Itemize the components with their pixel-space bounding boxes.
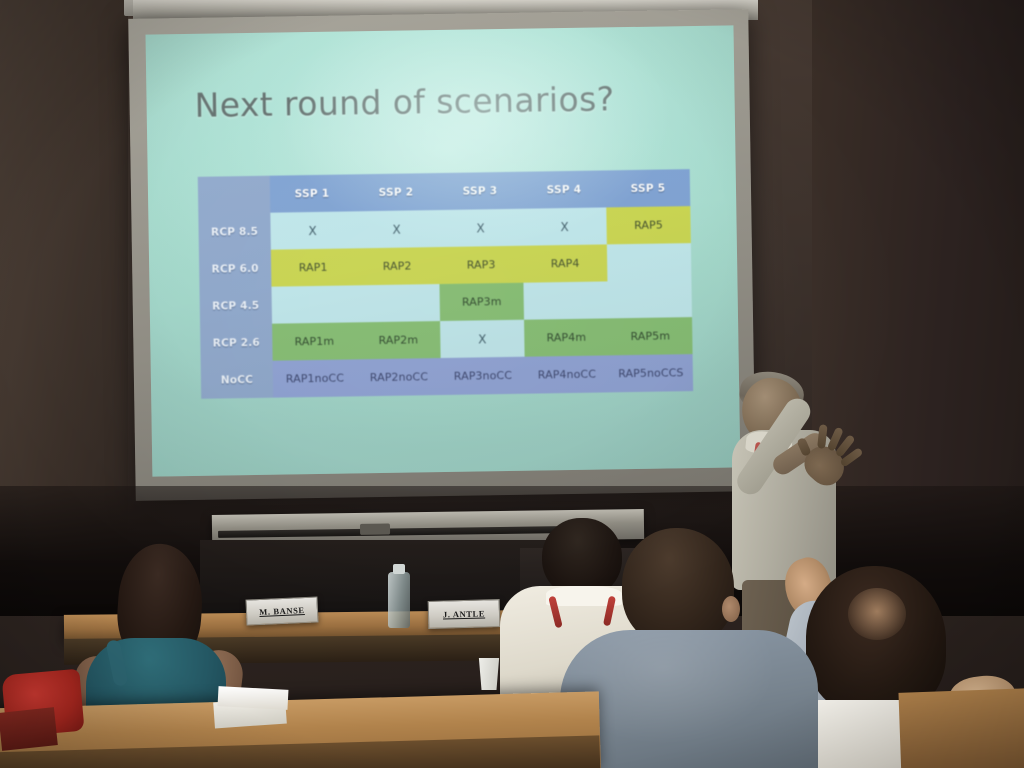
thumb [796, 437, 812, 457]
cell-rcp85-ssp1: X [270, 211, 355, 249]
cell-rcp85-ssp2: X [354, 210, 439, 248]
attendee-gray-shirt-ear [722, 596, 740, 622]
column-header-ssp3: SSP 3 [438, 172, 523, 210]
right-desk [898, 687, 1024, 768]
cell-rcp60-ssp2: RAP2 [355, 247, 440, 285]
cell-rcp45-ssp5 [607, 280, 692, 318]
cell-rcp85-ssp4: X [522, 207, 607, 245]
table-corner-cell [198, 176, 271, 214]
cell-rcp60-ssp1: RAP1 [271, 248, 356, 286]
cell-rcp45-ssp4 [523, 281, 608, 319]
red-notebook [0, 707, 58, 751]
cell-rcp60-ssp3: RAP3 [439, 246, 524, 284]
conference-room-photo: Next round of scenarios? SSP 1 SSP 2 SSP… [0, 0, 1024, 768]
bottle-cap [393, 564, 405, 574]
column-header-ssp4: SSP 4 [522, 170, 607, 208]
cell-rcp26-ssp4: RAP4m [524, 318, 609, 356]
projection-screen-frame: Next round of scenarios? SSP 1 SSP 2 SSP… [128, 9, 755, 501]
cell-rcp26-ssp1: RAP1m [272, 322, 357, 360]
attendee-right-scalp [848, 588, 906, 640]
column-header-ssp1: SSP 1 [270, 174, 355, 212]
cell-rcp85-ssp3: X [438, 209, 523, 247]
cell-nocc-ssp5: RAP5noCCS [609, 354, 694, 392]
cell-nocc-ssp1: RAP1noCC [273, 359, 358, 397]
attendee-gray-shirt-hair [622, 528, 734, 646]
cell-nocc-ssp4: RAP4noCC [525, 355, 610, 393]
cell-rcp45-ssp3: RAP3m [439, 283, 524, 321]
column-header-ssp2: SSP 2 [354, 173, 439, 211]
wall-left [0, 0, 128, 560]
water-bottle [388, 572, 410, 628]
table-row: NoCC RAP1noCC RAP2noCC RAP3noCC RAP4noCC… [201, 354, 694, 399]
tray-knob [360, 524, 390, 535]
cell-rcp85-ssp5: RAP5 [606, 206, 691, 244]
slide: Next round of scenarios? SSP 1 SSP 2 SSP… [146, 25, 741, 476]
cell-nocc-ssp2: RAP2noCC [357, 358, 442, 396]
name-placard: M. BANSE [245, 596, 318, 625]
row-header-rcp60: RCP 6.0 [199, 250, 272, 288]
cell-rcp60-ssp4: RAP4 [523, 244, 608, 282]
paper-cup [478, 658, 500, 690]
cell-nocc-ssp3: RAP3noCC [441, 357, 526, 395]
slide-title: Next round of scenarios? [194, 79, 615, 125]
cell-rcp60-ssp5 [607, 243, 692, 281]
column-header-ssp5: SSP 5 [606, 169, 691, 207]
scenario-matrix-table: SSP 1 SSP 2 SSP 3 SSP 4 SSP 5 RCP 8.5 X … [198, 169, 693, 399]
tray-lip [218, 526, 588, 538]
row-header-rcp26: RCP 2.6 [200, 324, 273, 362]
projection-screen-surface: Next round of scenarios? SSP 1 SSP 2 SSP… [146, 25, 741, 476]
row-header-rcp85: RCP 8.5 [198, 213, 271, 251]
cell-rcp26-ssp2: RAP2m [356, 321, 441, 359]
papers-sheet [218, 686, 289, 710]
name-placard: J. ANTLE [428, 599, 501, 629]
cell-rcp26-ssp5: RAP5m [608, 317, 693, 355]
row-header-nocc: NoCC [201, 361, 274, 399]
row-header-rcp45: RCP 4.5 [199, 287, 272, 325]
cell-rcp45-ssp2 [355, 284, 440, 322]
cell-rcp45-ssp1 [271, 285, 356, 323]
cell-rcp26-ssp3: X [440, 320, 525, 358]
